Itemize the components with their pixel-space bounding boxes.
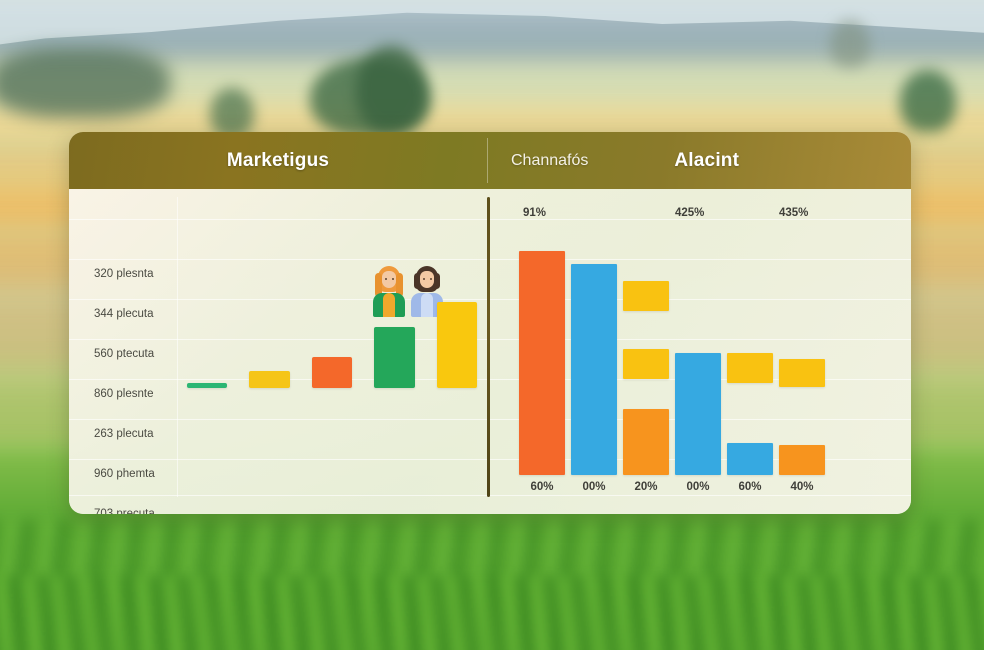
bar-yellow-floating [623, 349, 669, 379]
header-divider [487, 138, 488, 183]
header-title-secondary: Alacint [674, 150, 739, 172]
bar-blue [727, 443, 773, 475]
bottom-percentage-label: 60% [727, 481, 773, 493]
axis-label: 560 ptecuta [94, 348, 154, 360]
axis-label: 860 plesnte [94, 388, 153, 400]
tree-small-left [210, 88, 254, 138]
bar-orange [779, 445, 825, 475]
bar-column [571, 235, 617, 475]
bar [249, 371, 289, 388]
bar-column [727, 235, 773, 475]
bar-yellow-floating [623, 281, 669, 311]
bar [374, 327, 414, 388]
axis-label: 703 precuta [94, 508, 155, 514]
header-subtitle: Channafós [511, 152, 588, 170]
top-percentage-label: 425% [675, 207, 704, 219]
top-percentage-label: 91% [523, 207, 546, 219]
axis-label: 263 plecuta [94, 428, 153, 440]
bar-column [675, 235, 721, 475]
tree-right [900, 70, 956, 132]
axis-label: 320 plesnta [94, 268, 153, 280]
bar-yellow-floating [727, 353, 773, 383]
bar [312, 357, 352, 388]
bar [187, 383, 227, 388]
left-chart-panel: 320 plesnta 344 plecuta 560 ptecuta 860 … [69, 189, 487, 514]
bottom-percentage-label: 00% [675, 481, 721, 493]
bottom-percentage-label: 20% [623, 481, 669, 493]
card-header-left: Marketigus [69, 132, 487, 189]
left-bar-chart [187, 283, 477, 388]
bar-yellow-floating [779, 359, 825, 387]
tree-cluster-center-2 [356, 46, 426, 132]
bar-column [623, 235, 669, 475]
panel-split-divider [487, 197, 490, 497]
background-grass-front [0, 576, 984, 650]
axis-label: 344 plecuta [94, 308, 153, 320]
bar-column [779, 235, 825, 475]
page-title: Marketigus [227, 150, 329, 172]
bar-orange [623, 409, 669, 475]
right-chart-panel: 91% 425% 435% [493, 189, 911, 514]
dashboard-card: Marketigus Channafós Alacint 320 plesnta… [69, 132, 911, 514]
bar-column [519, 235, 565, 475]
label-column-separator [177, 197, 178, 497]
bottom-percentage-label: 60% [519, 481, 565, 493]
bar-blue [571, 264, 617, 475]
axis-label: 960 phemta [94, 468, 155, 480]
card-header: Marketigus Channafós Alacint [69, 132, 911, 189]
card-header-right: Channafós Alacint [487, 132, 911, 189]
tree-far-right [830, 20, 870, 68]
bottom-percentage-label: 40% [779, 481, 825, 493]
card-body: 320 plesnta 344 plecuta 560 ptecuta 860 … [69, 189, 911, 514]
bar-orange [519, 251, 565, 475]
bar [437, 302, 477, 388]
tree-line-left [0, 48, 170, 118]
bar-blue [675, 353, 721, 475]
right-bar-chart [519, 235, 897, 475]
bottom-percentage-label: 00% [571, 481, 617, 493]
top-percentage-label: 435% [779, 207, 808, 219]
